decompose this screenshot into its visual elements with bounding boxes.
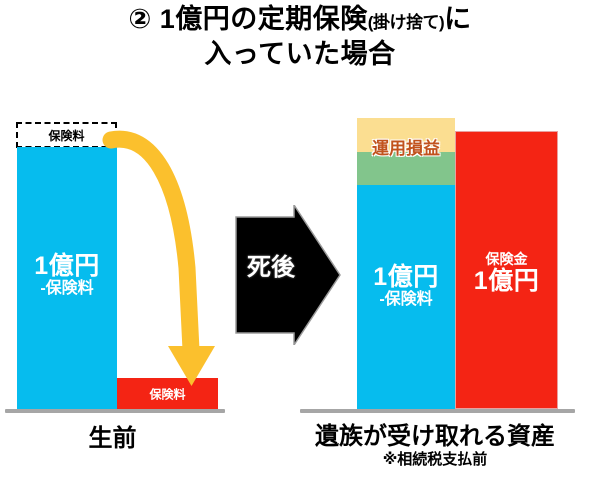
title-line-2: 入っていた場合: [0, 37, 600, 72]
axis-label-after-death: 遺族が受け取れる資産: [285, 416, 585, 451]
title-parenthetical: (掛け捨て): [368, 13, 444, 32]
baseline-before-death: [5, 409, 225, 413]
chart-panel-before-death: 保険料 1億円 -保険料 保険料 生前: [0, 110, 240, 491]
bar-before-assets-main-label: 1億円: [17, 253, 117, 279]
bar-after-insurance-payout-sub-label: 保険金: [456, 252, 557, 267]
axis-note-after-death: ※相続税支払前: [285, 448, 585, 469]
baseline-after-death: [300, 409, 575, 413]
title-number: ②: [128, 4, 151, 34]
title-main-text: 1億円の定期保険: [160, 4, 368, 34]
chart-panel-after-death: 1億円 -保険料 運用損益 保険金 1億円 遺族が受け取れる資産 ※相続税支払前: [295, 110, 600, 491]
title-tail-text: に: [444, 4, 472, 34]
bar-after-assets-sub-label: -保険料: [357, 292, 455, 309]
bar-after-insurance-payout-text: 保険金 1億円: [456, 252, 557, 294]
curved-down-arrow-icon: [105, 118, 215, 393]
bar-before-assets: 1億円 -保険料: [17, 147, 117, 409]
bar-after-assets: 1億円 -保険料: [357, 185, 455, 409]
bar-after-assets-text: 1億円 -保険料: [357, 264, 455, 309]
page-title: ② 1億円の定期保険(掛け捨て)に 入っていた場合: [0, 2, 600, 71]
bar-after-insurance-payout-main-label: 1億円: [456, 268, 557, 294]
dashed-premium-label: 保険料: [48, 127, 84, 144]
bar-before-assets-sub-label: -保険料: [17, 281, 117, 298]
bar-after-insurance-payout: 保険金 1億円: [455, 131, 558, 409]
bar-before-assets-text: 1億円 -保険料: [17, 253, 117, 298]
bar-after-assets-main-label: 1億円: [357, 264, 455, 290]
title-line-1: ② 1億円の定期保険(掛け捨て)に: [0, 2, 600, 37]
axis-label-before-death: 生前: [0, 418, 225, 453]
dashed-premium-box: 保険料: [16, 122, 117, 148]
bar-after-investment-label: 運用損益: [357, 134, 455, 159]
